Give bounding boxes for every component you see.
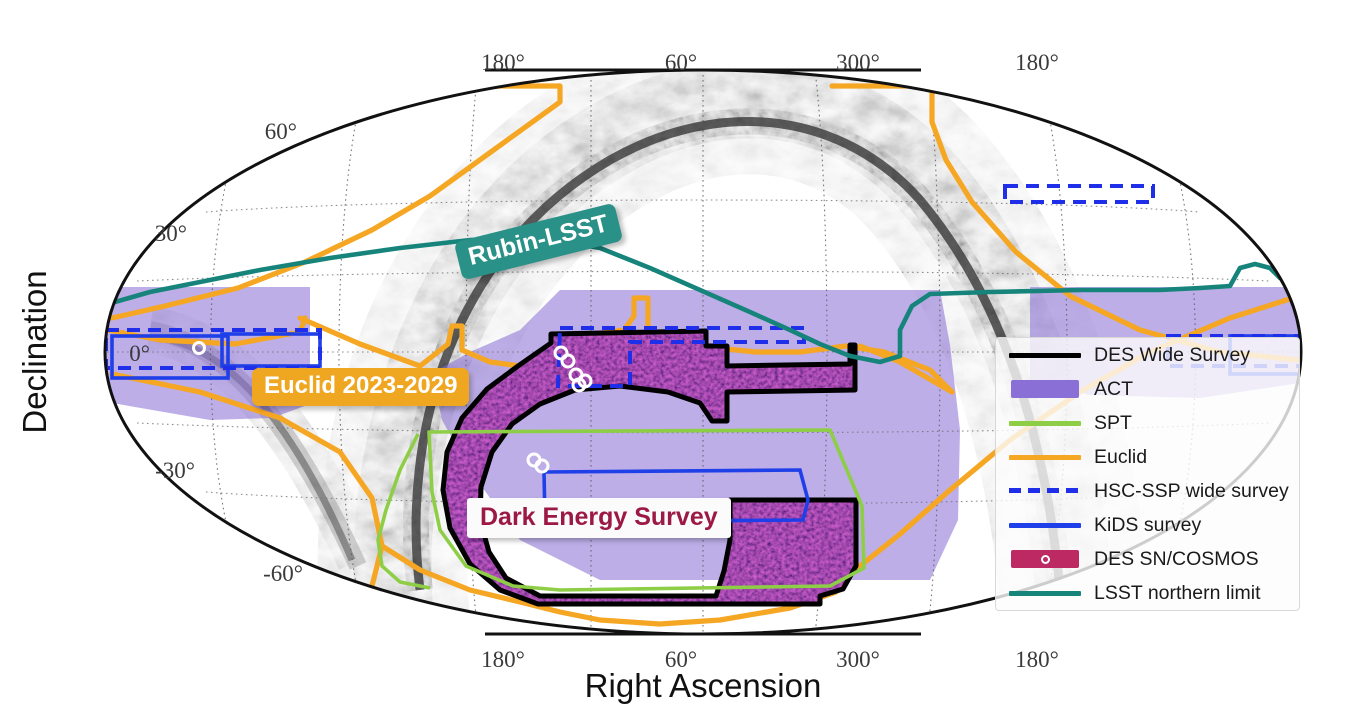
ra-tick-top-2: 300° bbox=[836, 50, 880, 75]
legend-key-kids bbox=[1009, 514, 1081, 536]
legend-label-hsc-ssp: HSC-SSP wide survey bbox=[1094, 480, 1289, 503]
ra-tick-bottom-2: 300° bbox=[836, 647, 880, 672]
ra-tick-top-0: 180° bbox=[481, 50, 525, 75]
legend-key-act bbox=[1009, 378, 1081, 400]
legend-key-euclid bbox=[1009, 446, 1081, 468]
legend-item-act: ACT bbox=[996, 372, 1299, 406]
legend-key-des-sn-cosmos bbox=[1009, 548, 1081, 570]
dec-tick-0: 0° bbox=[129, 341, 150, 366]
cosmos-field-icon bbox=[1041, 555, 1050, 564]
ra-tick-top-3: 180° bbox=[1015, 50, 1059, 75]
annotation-dark-energy-survey: Dark Energy Survey bbox=[467, 498, 731, 538]
legend-label-kids: KiDS survey bbox=[1094, 514, 1201, 537]
ra-tick-top-1: 60° bbox=[665, 50, 697, 75]
legend-item-kids: KiDS survey bbox=[996, 508, 1299, 542]
legend-item-des-wide-survey: DES Wide Survey bbox=[996, 338, 1299, 372]
dec-tick-60: 60° bbox=[265, 119, 297, 144]
y-axis-title: Declination bbox=[16, 270, 53, 433]
legend-label-des-sn-cosmos: DES SN/COSMOS bbox=[1094, 548, 1259, 571]
legend: DES Wide Survey ACT SPT Euclid HSC-SSP w bbox=[995, 337, 1300, 611]
legend-label-des-wide-survey: DES Wide Survey bbox=[1094, 344, 1250, 367]
legend-item-euclid: Euclid bbox=[996, 440, 1299, 474]
annotation-euclid-2023-2029: Euclid 2023-2029 bbox=[252, 368, 469, 406]
legend-item-lsst-northern-limit: LSST northern limit bbox=[996, 576, 1299, 610]
x-axis-title: Right Ascension bbox=[585, 667, 822, 704]
ra-tick-bottom-3: 180° bbox=[1015, 647, 1059, 672]
dec-tick-m60: -60° bbox=[263, 561, 303, 586]
legend-label-euclid: Euclid bbox=[1094, 446, 1147, 469]
legend-key-spt bbox=[1009, 412, 1081, 434]
ra-tick-bottom-0: 180° bbox=[481, 647, 525, 672]
legend-label-act: ACT bbox=[1094, 378, 1133, 401]
dec-tick-m30: -30° bbox=[155, 458, 195, 483]
legend-label-spt: SPT bbox=[1094, 412, 1132, 435]
legend-item-hsc-ssp: HSC-SSP wide survey bbox=[996, 474, 1299, 508]
sky-survey-footprint-figure: 180° 60° 300° 180° 180° 60° 300° 180° 60… bbox=[0, 0, 1366, 710]
legend-item-spt: SPT bbox=[996, 406, 1299, 440]
legend-key-hsc-ssp bbox=[1009, 480, 1081, 502]
legend-item-des-sn-cosmos: DES SN/COSMOS bbox=[996, 542, 1299, 576]
legend-key-lsst-northern-limit bbox=[1009, 582, 1081, 604]
dec-tick-30: 30° bbox=[155, 221, 187, 246]
legend-key-des-wide-survey bbox=[1009, 344, 1081, 366]
legend-label-lsst-northern-limit: LSST northern limit bbox=[1094, 582, 1261, 605]
